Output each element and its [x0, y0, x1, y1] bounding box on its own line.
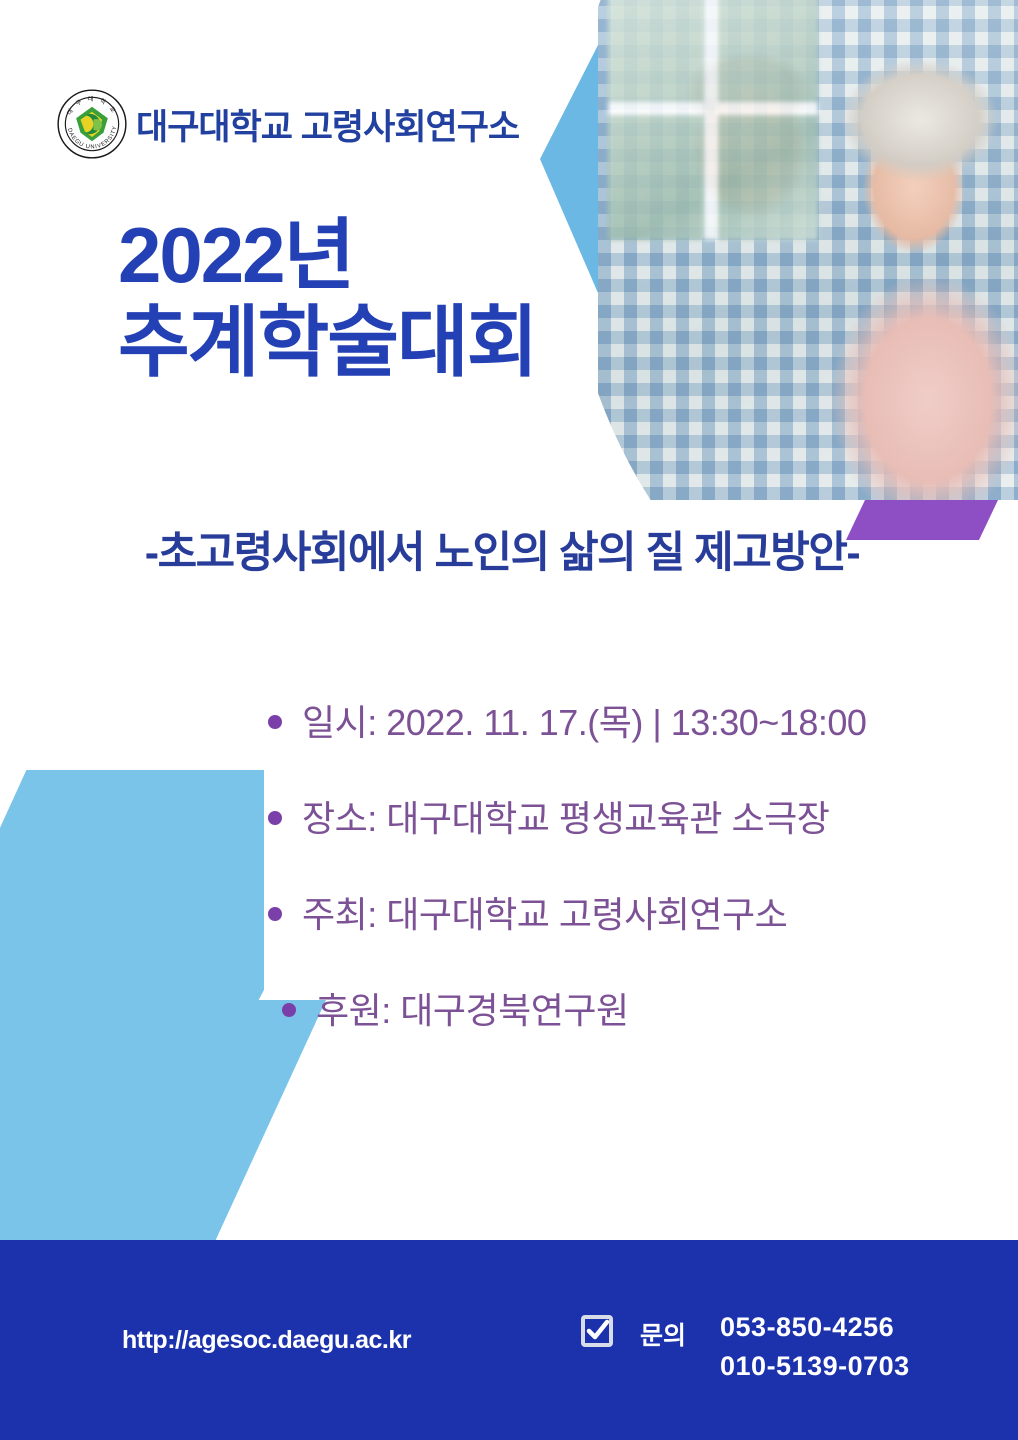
- info-text-sponsor: 후원: 대구경북연구원: [316, 982, 629, 1034]
- footer-bar: http://agesoc.daegu.ac.kr 문의 053-850-425…: [0, 1240, 1018, 1440]
- photo-tint-overlay: [598, 0, 1018, 500]
- poster-root: 대 구 대 학 교 DAEGU UNIVERSITY 1956 대구대학교 고령…: [0, 0, 1018, 1440]
- info-text-date: 일시: 2022. 11. 17.(목) | 13:30~18:00: [302, 694, 866, 746]
- phone-number-list: 053-850-4256 010-5139-0703: [720, 1312, 910, 1382]
- bullet-dot-icon: [268, 811, 282, 825]
- title-line-event: 추계학술대회: [118, 299, 537, 386]
- event-info-list: 일시: 2022. 11. 17.(목) | 13:30~18:00 장소: 대…: [268, 694, 866, 1034]
- hero-photo-image: [598, 0, 1018, 500]
- title-line-year: 2022년: [118, 212, 537, 299]
- poster-title: 2022년 추계학술대회: [118, 212, 537, 387]
- daegu-university-seal-icon: 대 구 대 학 교 DAEGU UNIVERSITY 1956: [56, 88, 128, 160]
- chevron-purple-bottom-left-icon: [0, 888, 164, 1248]
- chevron-purple-photo-upper-icon: [652, 228, 812, 398]
- info-text-venue: 장소: 대구대학교 평생교육관 소극장: [302, 790, 829, 842]
- info-text-host: 주최: 대구대학교 고령사회연구소: [302, 886, 787, 938]
- checkbox-checked-icon: [580, 1314, 614, 1353]
- contact-block: 문의 053-850-4256 010-5139-0703: [580, 1312, 910, 1382]
- bullet-dot-icon: [268, 715, 282, 729]
- info-item-sponsor: 후원: 대구경북연구원: [268, 982, 866, 1034]
- chevron-blue-bottom-left-inner-icon: [26, 1000, 326, 1248]
- info-item-venue: 장소: 대구대학교 평생교육관 소극장: [268, 790, 866, 842]
- header: 대 구 대 학 교 DAEGU UNIVERSITY 1956 대구대학교 고령…: [56, 88, 519, 160]
- photo-window-background: [608, 0, 818, 240]
- contact-label: 문의: [640, 1316, 686, 1352]
- info-item-date: 일시: 2022. 11. 17.(목) | 13:30~18:00: [268, 694, 866, 746]
- website-url-link[interactable]: http://agesoc.daegu.ac.kr: [122, 1326, 411, 1355]
- hero-photo: [598, 0, 1018, 500]
- bullet-dot-icon: [268, 907, 282, 921]
- chevron-blue-top-icon: [540, 0, 750, 324]
- phone-number-office: 053-850-4256: [720, 1312, 910, 1343]
- bullet-dot-icon: [282, 1003, 296, 1017]
- chevron-blue-bottom-left-outer-icon: [0, 770, 264, 1248]
- phone-number-mobile: 010-5139-0703: [720, 1351, 910, 1382]
- info-item-host: 주최: 대구대학교 고령사회연구소: [268, 886, 866, 938]
- organization-name: 대구대학교 고령사회연구소: [136, 99, 519, 150]
- poster-subtitle: -초고령사회에서 노인의 삶의 질 제고방안-: [52, 518, 952, 580]
